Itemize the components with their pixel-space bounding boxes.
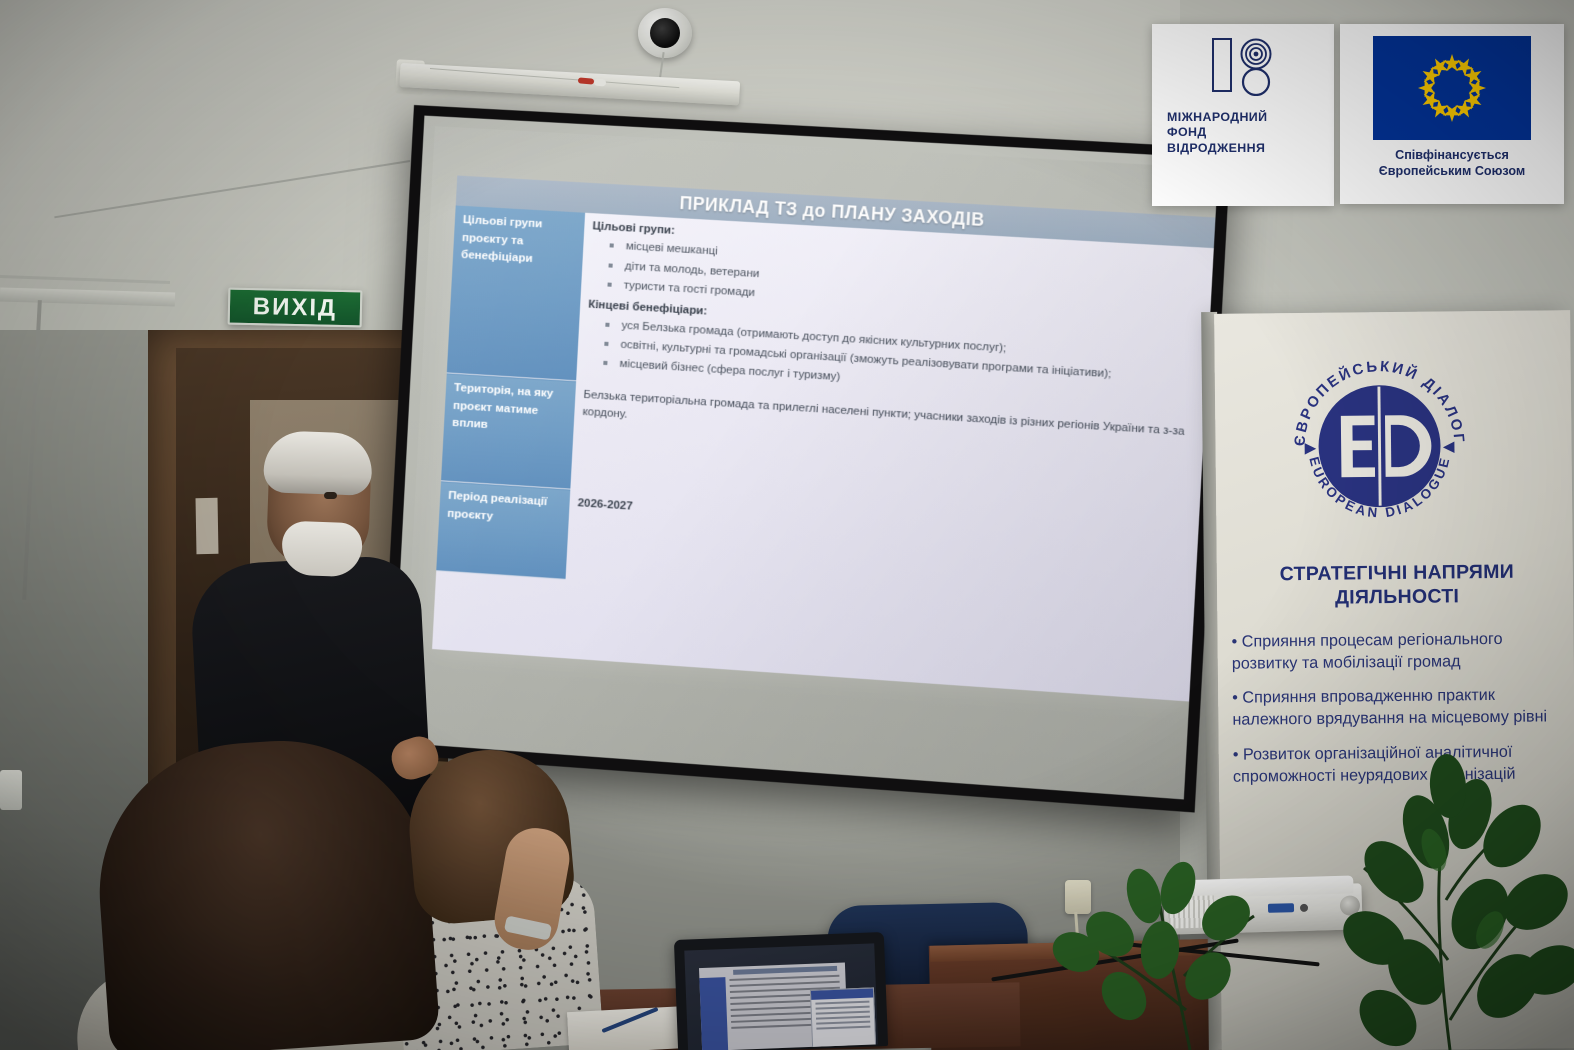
irf-line-3: ВІДРОДЖЕННЯ bbox=[1167, 141, 1333, 156]
irf-line-2: ФОНД bbox=[1167, 125, 1333, 140]
presenter-eye bbox=[324, 492, 337, 499]
projector-vga-port bbox=[1268, 903, 1294, 913]
irf-logo-text: МІЖНАРОДНИЙ ФОНД ВІДРОДЖЕННЯ bbox=[1153, 110, 1333, 156]
exit-sign: ВИХІД bbox=[228, 288, 363, 328]
camera-lens-icon bbox=[650, 18, 680, 48]
laptop[interactable] bbox=[674, 932, 888, 1050]
eu-logo-card: Співфінансується Європейським Союзом bbox=[1340, 24, 1564, 204]
slide-table: Цільові групи проєкту та бенефіціари Ціл… bbox=[436, 205, 1214, 622]
irf-bar-shape bbox=[1212, 38, 1232, 92]
row-header-territory: Територія, на яку проєкт матиме вплив bbox=[441, 373, 576, 489]
irf-circles-shape bbox=[1238, 38, 1274, 96]
laptop-slide-title-bar bbox=[733, 966, 837, 975]
irf-logo-card: МІЖНАРОДНИЙ ФОНД ВІДРОДЖЕННЯ bbox=[1152, 24, 1334, 206]
row-header-target-groups: Цільові групи проєкту та бенефіціари bbox=[447, 205, 585, 380]
eu-logo-text: Співфінансується Європейським Союзом bbox=[1379, 147, 1525, 180]
irf-logo-mark-icon bbox=[1212, 38, 1274, 100]
potted-plant-right bbox=[1330, 600, 1574, 1050]
potted-plant-center bbox=[1040, 800, 1270, 1050]
irf-target-icon bbox=[1238, 38, 1274, 96]
door-paper-note bbox=[196, 498, 219, 554]
laptop-slide-sidebar bbox=[699, 977, 728, 1050]
laptop-thumbnail-panel bbox=[810, 987, 876, 1049]
presenter-beard bbox=[281, 521, 363, 578]
eu-flag-icon bbox=[1373, 36, 1531, 140]
irf-line-1: МІЖНАРОДНИЙ bbox=[1167, 110, 1333, 125]
european-dialogue-logo-icon: ЄВРОПЕЙСЬКИЙ ДІАЛОГ EUROPEAN DIALOGUE bbox=[1283, 349, 1477, 543]
projection-screen: ПРИКЛАД ТЗ до ПЛАНУ ЗАХОДІВ Цільові груп… bbox=[379, 105, 1231, 823]
security-camera-icon bbox=[638, 8, 692, 58]
laptop-screen[interactable] bbox=[684, 943, 878, 1050]
eu-stars bbox=[1373, 36, 1531, 140]
conference-room-photo: ВИХІД ПРИКЛАД ТЗ до ПЛАНУ ЗАХОДІВ Цільов… bbox=[0, 0, 1574, 1050]
row-header-period: Період реалізації проєкту bbox=[436, 481, 570, 580]
logo-overlay: МІЖНАРОДНИЙ ФОНД ВІДРОДЖЕННЯ bbox=[1152, 24, 1564, 206]
wire-marker-red bbox=[578, 77, 594, 84]
banner-heading-line1: СТРАТЕГІЧНІ НАПРЯМИ bbox=[1237, 560, 1557, 587]
eu-line-2: Європейським Союзом bbox=[1379, 163, 1525, 179]
presentation-slide: ПРИКЛАД ТЗ до ПЛАНУ ЗАХОДІВ Цільові груп… bbox=[432, 191, 1215, 701]
wall-socket-left bbox=[0, 770, 22, 810]
screen-surface: ПРИКЛАД ТЗ до ПЛАНУ ЗАХОДІВ Цільові груп… bbox=[391, 116, 1219, 800]
eu-line-1: Співфінансується bbox=[1379, 147, 1525, 163]
wire-marker-white bbox=[594, 78, 607, 86]
laptop-panel-header bbox=[811, 988, 873, 999]
exit-sign-label: ВИХІД bbox=[253, 293, 338, 323]
